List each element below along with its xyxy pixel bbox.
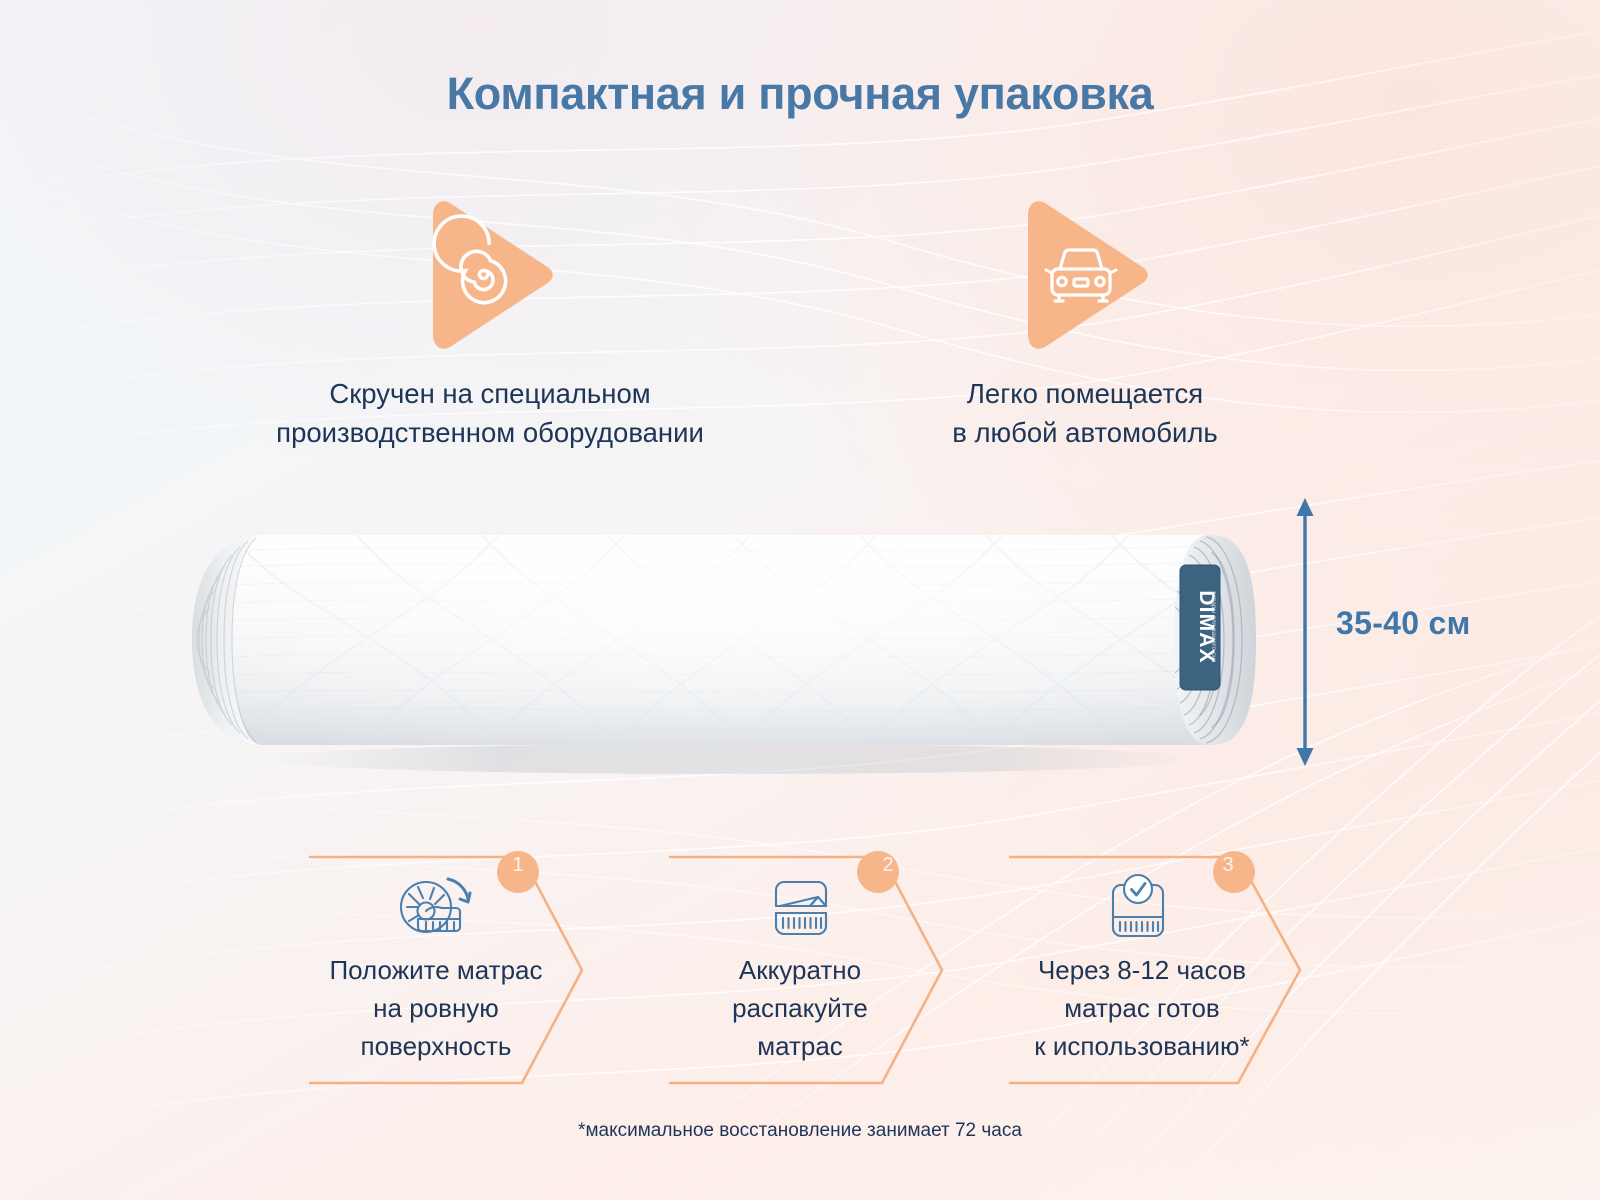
page-title: Компактная и прочная упаковка: [0, 68, 1600, 120]
mattress-check-icon: [1102, 873, 1174, 945]
unwrap-mattress-icon: [766, 873, 836, 943]
dimension-label: 35-40 см: [1336, 605, 1471, 642]
steps-row: 1: [0, 845, 1600, 1095]
brand-tag: DIMAX товары для вашего сна: [1180, 565, 1220, 690]
rolled-mattress-image: DIMAX товары для вашего сна: [170, 495, 1300, 785]
feature-fits-any-car: Легко помещается в любой автомобиль: [870, 195, 1300, 452]
feature-label: Скручен на специальном производственном …: [180, 374, 800, 452]
step-label: Через 8-12 часов матрас готов к использо…: [1000, 951, 1350, 1065]
feature-label: Легко помещается в любой автомобиль: [870, 374, 1300, 452]
car-front-icon: [1010, 195, 1160, 355]
infographic-canvas: Компактная и прочная упаковка Скручен на…: [0, 0, 1600, 1200]
rolled-mattress-arrow-icon: [396, 873, 478, 943]
step-1: 1: [300, 845, 630, 1095]
step-3: 3 Через 8-12 часов матрас готов к ис: [1000, 845, 1350, 1095]
feature-rolled-on-equipment: Скручен на специальном производственном …: [180, 195, 800, 452]
svg-text:товары для вашего сна: товары для вашего сна: [1210, 591, 1217, 663]
dimension-arrow: [1288, 498, 1322, 766]
step-label: Аккуратно распакуйте матрас: [660, 951, 990, 1065]
step-2: 2 Аккуратно распакуйте матрас: [660, 845, 990, 1095]
step-label: Положите матрас на ровную поверхность: [300, 951, 630, 1065]
footnote: *максимальное восстановление занимает 72…: [0, 1120, 1600, 1142]
spiral-roll-icon: [415, 195, 565, 355]
